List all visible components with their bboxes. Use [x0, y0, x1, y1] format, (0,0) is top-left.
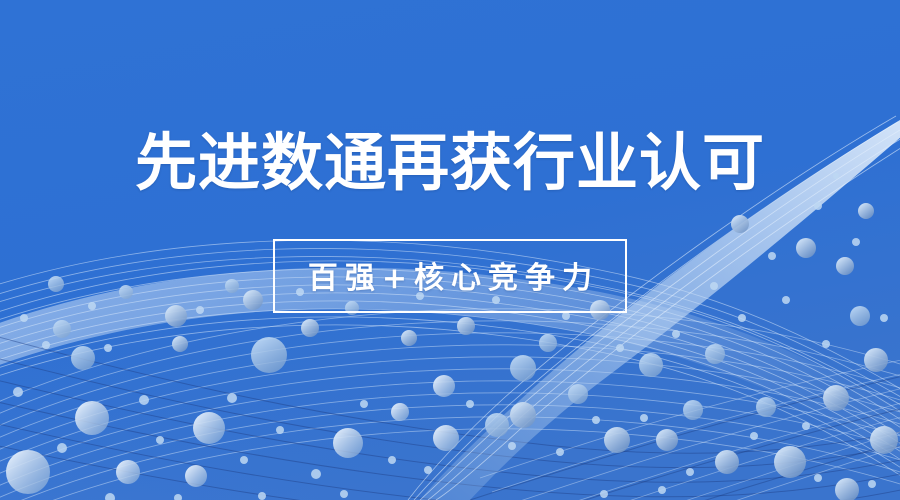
promotional-banner: 先进数通再获行业认可 百强+核心竞争力 [0, 0, 900, 500]
banner-title: 先进数通再获行业认可 [135, 130, 765, 195]
banner-subtitle: 百强+核心竞争力 [301, 253, 599, 297]
banner-content: 先进数通再获行业认可 百强+核心竞争力 [0, 0, 900, 500]
subtitle-frame: 百强+核心竞争力 [273, 239, 627, 313]
